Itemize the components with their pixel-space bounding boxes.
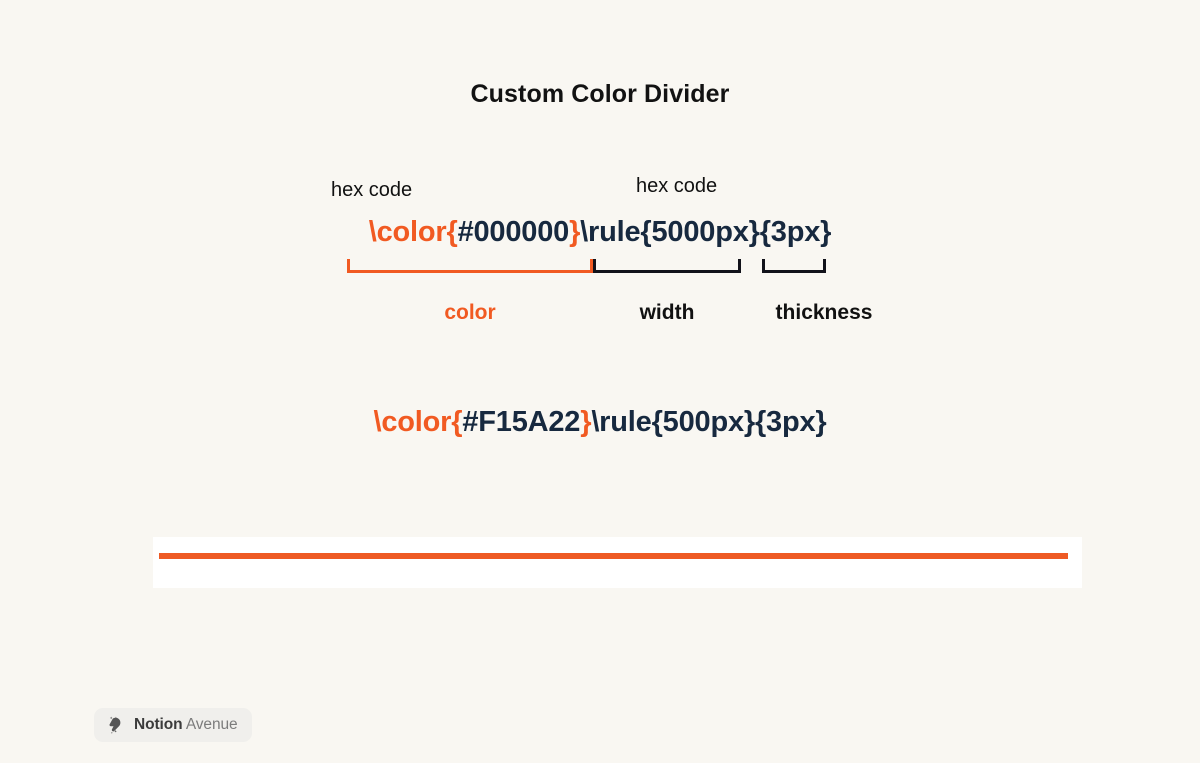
brand-name-light: Avenue <box>186 716 238 733</box>
brand-badge[interactable]: Notion Avenue <box>94 708 252 742</box>
example-token-rule-expression: \rule{500px}{3px} <box>591 406 826 438</box>
notion-avenue-logo-icon <box>104 714 126 736</box>
token-color-open: \color{ <box>369 216 458 248</box>
token-rule-expression: \rule{5000px}{3px} <box>580 216 831 248</box>
bracket-width <box>593 259 741 273</box>
callout-label-hex-code-right: hex code <box>636 173 717 199</box>
example-code-line: \color{#F15A22}\rule{500px}{3px} <box>0 403 1200 441</box>
brand-name-strong: Notion <box>134 716 182 733</box>
example-token-color-open: \color{ <box>373 406 462 438</box>
example-token-hex-value: #F15A22 <box>462 406 580 438</box>
bracket-color <box>347 259 593 273</box>
example-token-color-close: } <box>580 406 591 438</box>
brand-name: Notion Avenue <box>134 715 238 735</box>
part-label-color: color <box>347 299 593 327</box>
callout-label-hex-code-left: hex code <box>331 177 412 203</box>
page-canvas: Custom Color Divider hex code hex code \… <box>0 0 1200 763</box>
divider-preview-card <box>153 537 1082 588</box>
bracket-group <box>0 259 1200 275</box>
part-label-width: width <box>593 299 741 327</box>
syntax-code-line: \color{#000000}\rule{5000px}{3px} <box>0 213 1200 251</box>
page-title: Custom Color Divider <box>0 78 1200 110</box>
part-label-thickness: thickness <box>742 299 906 327</box>
token-hex-value: #000000 <box>458 216 570 248</box>
bracket-thickness <box>762 259 826 273</box>
rendered-divider-rule <box>159 553 1068 559</box>
token-color-close: } <box>569 216 580 248</box>
